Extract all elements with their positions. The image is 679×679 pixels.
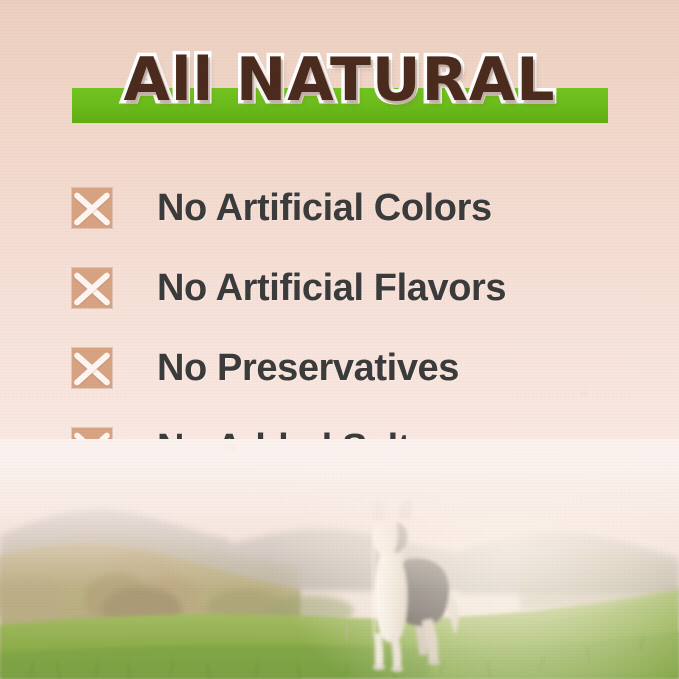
list-item: No Artificial Colors [72,168,632,248]
x-mark-icon [72,268,112,308]
claim-label: No Artificial Colors [157,188,492,228]
landscape-dog-photo [0,439,679,679]
x-mark-icon [72,188,112,228]
claim-label: No Artificial Flavors [157,268,506,308]
list-item: No Preservatives [72,328,632,408]
claim-label: No Preservatives [157,348,459,388]
photo-artwork [0,439,679,679]
list-item: No Artificial Flavors [72,248,632,328]
x-mark-icon [72,348,112,388]
page-title: All NATURAL [0,46,679,114]
product-feature-poster: All NATURAL No Artificial Colors No Arti… [0,0,679,679]
headline-banner: All NATURAL [0,46,679,130]
